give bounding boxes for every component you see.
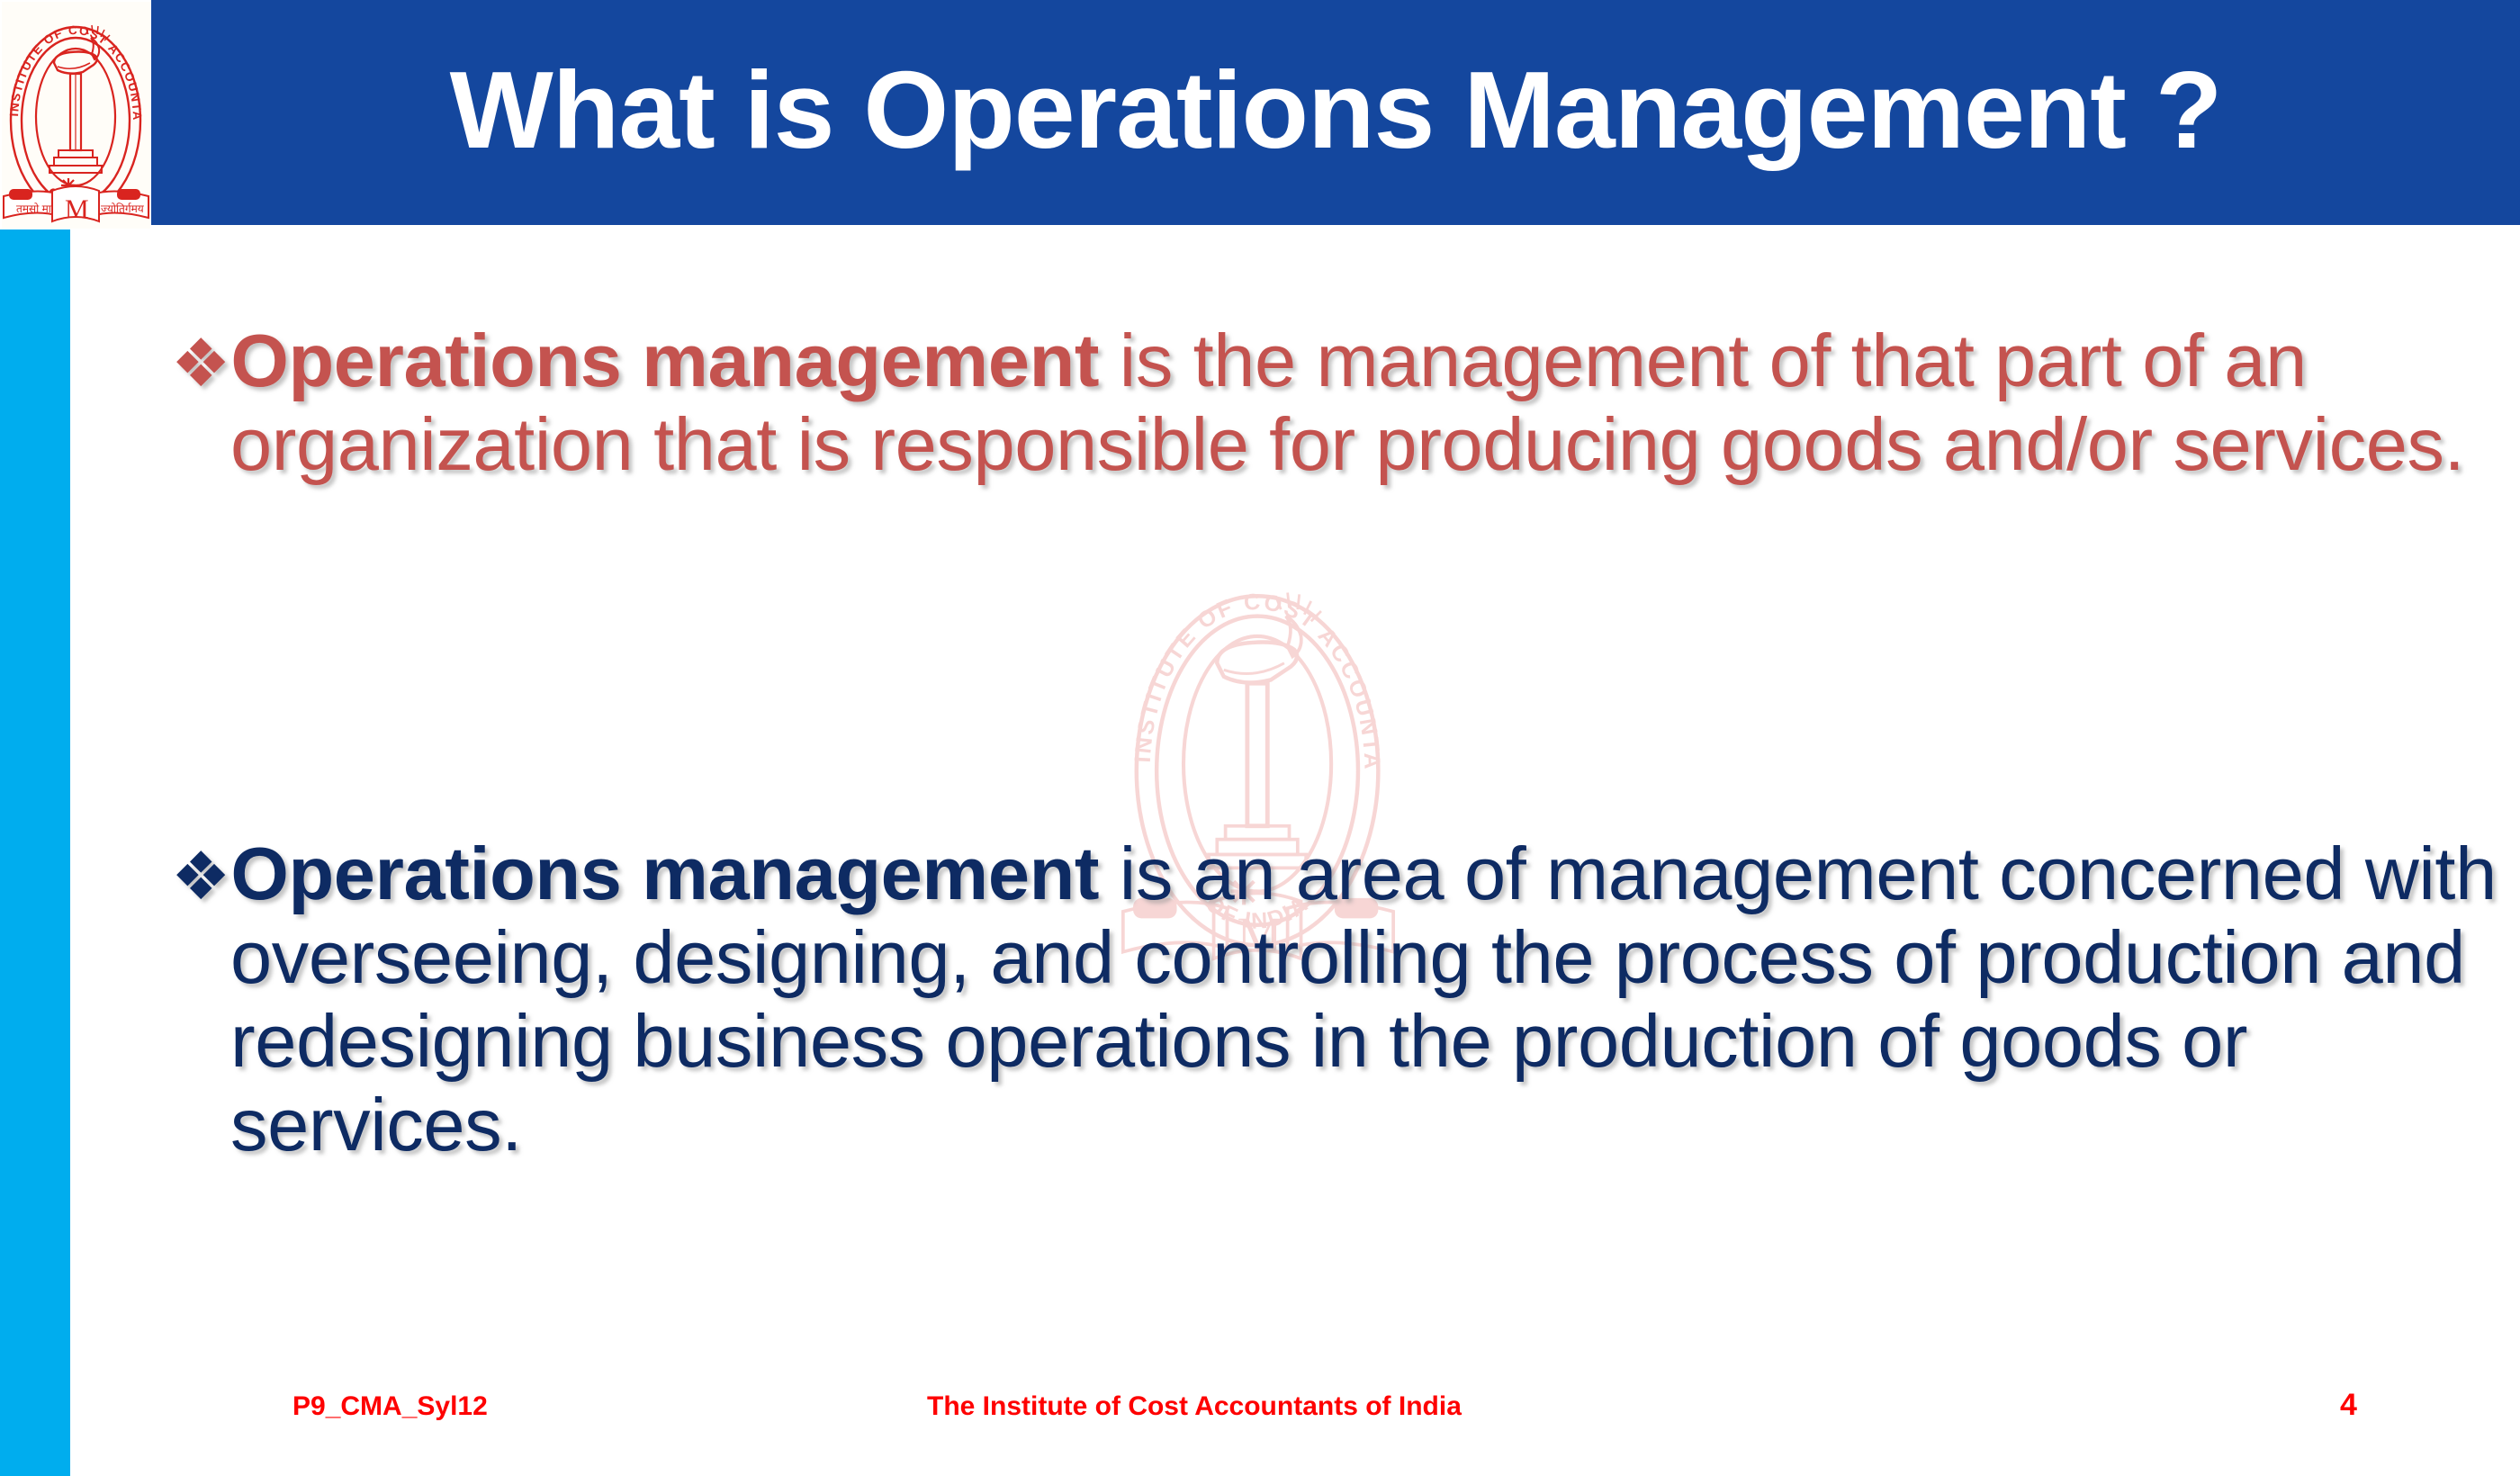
svg-text:ज्योतिर्गमय: ज्योतिर्गमय bbox=[101, 202, 145, 215]
footer-paper-code: P9_CMA_Syl12 bbox=[292, 1391, 488, 1422]
svg-text:तमसो मा: तमसो मा bbox=[16, 202, 52, 215]
icai-emblem-icon: THE INSTITUTE OF COST ACCOUNTANTS OF IND… bbox=[2, 2, 150, 229]
slide-header-bar: What is Operations Management ? bbox=[151, 0, 2520, 225]
svg-text:M: M bbox=[65, 194, 89, 224]
page-title: What is Operations Management ? bbox=[151, 0, 2520, 225]
slide-body: ❖Operations management is the management… bbox=[171, 245, 2475, 1325]
left-accent-strip bbox=[0, 229, 70, 1476]
bullet-item-1-lead: Operations management bbox=[230, 319, 1099, 402]
slide-footer: P9_CMA_Syl12 The Institute of Cost Accou… bbox=[0, 1375, 2520, 1438]
bullet-item-2-lead: Operations management bbox=[230, 832, 1099, 915]
footer-institute-name: The Institute of Cost Accountants of Ind… bbox=[927, 1391, 1462, 1422]
diamond-bullet-icon: ❖ bbox=[171, 325, 230, 402]
bullet-item-2: ❖Operations management is an area of man… bbox=[171, 832, 2507, 1167]
footer-page-number: 4 bbox=[2340, 1388, 2357, 1423]
bullet-item-1: ❖Operations management is the management… bbox=[171, 319, 2507, 487]
diamond-bullet-icon: ❖ bbox=[171, 838, 230, 915]
presentation-slide: What is Operations Management ? THE INST… bbox=[0, 0, 2520, 1476]
